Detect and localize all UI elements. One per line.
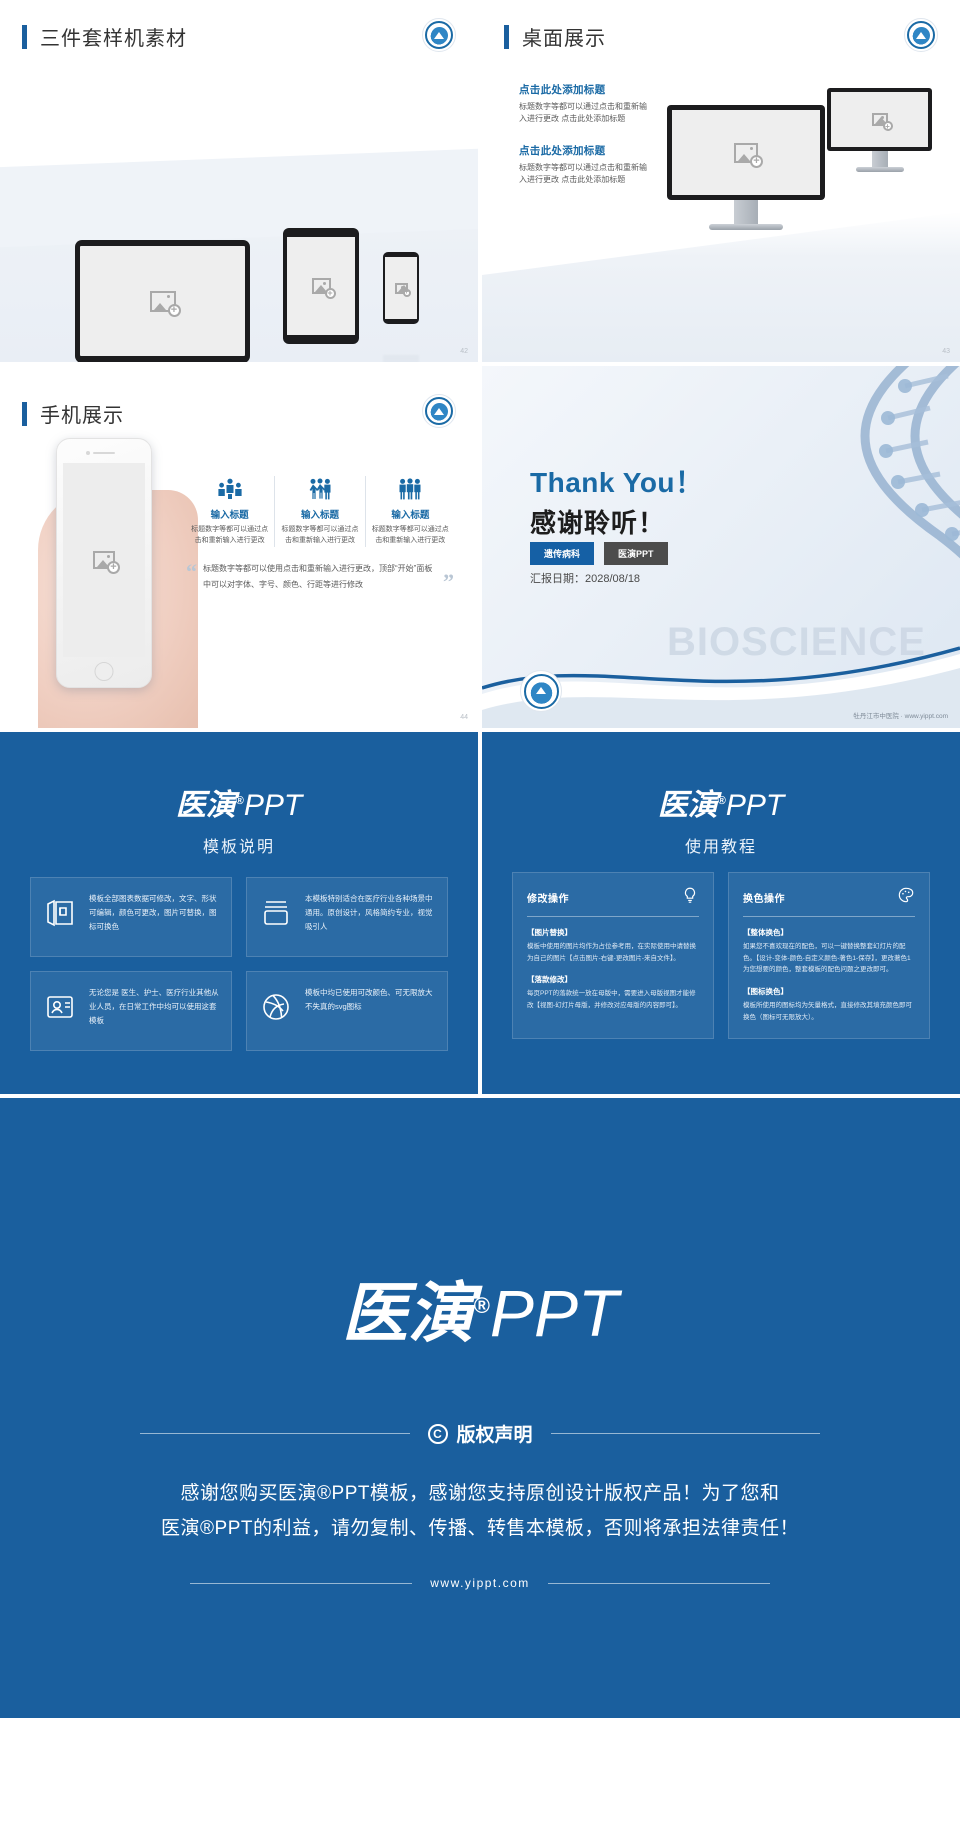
image-placeholder-icon: + bbox=[734, 143, 758, 163]
title-accent-bar bbox=[504, 25, 509, 49]
info-card[interactable]: 本模板特别适合在医疗行业各种场景中通用。原创设计，风格简约专业，视觉吸引人 bbox=[246, 877, 448, 957]
info-card[interactable]: 模板全部图表数据可修改，文字、形状可编辑，颜色可更改，图片可替换，图标可换色 bbox=[30, 877, 232, 957]
slide-thank-you[interactable]: Thank You！ 感谢聆听！ 遗传病科 医演PPT 汇报日期：2028/08… bbox=[482, 366, 960, 728]
image-placeholder-icon: + bbox=[150, 291, 176, 312]
info-card-text: 模板全部图表数据可修改，文字、形状可编辑，颜色可更改，图片可替换，图标可换色 bbox=[89, 892, 219, 934]
tutorial-block-text: 模板中使用的图片均作为占位参考用，在实际使用中请替换为自己的图片【点击图片-右键… bbox=[527, 941, 699, 964]
slide-mockup[interactable]: 三件套样机素材 + bbox=[0, 0, 478, 362]
copyright-heading-text: 版权声明 bbox=[457, 1420, 533, 1447]
image-placeholder-icon: + bbox=[872, 113, 888, 126]
text-block: 点击此处添加标题 标题数字等都可以通过点击和重新输入进行更改 点击此处添加标题 bbox=[519, 143, 647, 187]
slide-title-text: 手机展示 bbox=[40, 399, 124, 428]
people-group-icon bbox=[281, 476, 358, 500]
info-card-text: 模板中均已使用可改颜色、可无限放大不失真的svg图标 bbox=[305, 986, 435, 1014]
team-check-icon bbox=[191, 476, 268, 500]
footer-credit: 牡丹江市中医院 · www.yippt.com bbox=[853, 710, 948, 720]
copyright-label: C 版权声明 bbox=[428, 1420, 533, 1447]
tutorial-block-title: 【图标换色】 bbox=[743, 986, 915, 997]
tutorial-column-heading: 换色操作 bbox=[743, 890, 785, 905]
lightbulb-icon bbox=[681, 886, 699, 909]
slide-title-text: 三件套样机素材 bbox=[40, 22, 187, 51]
feature-heading: 输入标题 bbox=[191, 507, 268, 521]
tutorial-block: 【图片替换】 模板中使用的图片均作为占位参考用，在实际使用中请替换为自己的图片【… bbox=[527, 927, 699, 964]
brand-ppt: PPT bbox=[726, 789, 784, 822]
block-heading: 点击此处添加标题 bbox=[519, 143, 647, 158]
slide-subtitle: 模板说明 bbox=[0, 833, 478, 857]
copyright-heading-row: C 版权声明 bbox=[140, 1420, 820, 1447]
brand-tag[interactable]: 医演PPT bbox=[604, 542, 668, 565]
info-card[interactable]: 无论您是 医生、护士、医疗行业其他从业人员，在日常工作中均可以使用这套模板 bbox=[30, 971, 232, 1051]
tutorial-block: 【落款修改】 每页PPT的落款统一放在母版中，需要进入母版视图才能修改【视图-幻… bbox=[527, 974, 699, 1011]
brand-main: 医演 bbox=[658, 789, 718, 822]
page-title: 手机展示 bbox=[22, 399, 124, 428]
feature-body: 标题数字等都可以通过点击和重新输入进行更改 bbox=[281, 525, 358, 547]
tag-group: 遗传病科 医演PPT bbox=[530, 542, 668, 565]
feature-item[interactable]: 输入标题 标题数字等都可以通过点击和重新输入进行更改 bbox=[185, 476, 274, 547]
desktop-stage bbox=[482, 212, 960, 362]
thank-you-cn: 感谢聆听！ bbox=[530, 503, 704, 540]
website-url[interactable]: www.yippt.com bbox=[430, 1576, 530, 1590]
tutorial-columns: 修改操作 【图片替换】 模板中使用的图片均作为占位参考用，在实际使用中请替换为自… bbox=[512, 872, 930, 1039]
tutorial-block: 【整体换色】 如果您不喜欢现在的配色，可以一键替换整套幻灯片的配色。【设计-变体… bbox=[743, 927, 915, 976]
device-stage: + + bbox=[0, 140, 478, 362]
feature-heading: 输入标题 bbox=[281, 507, 358, 521]
copyright-line-1: 感谢您购买医演®PPT模板，感谢您支持原创设计版权产品！为了您和 bbox=[130, 1476, 830, 1511]
dribbble-icon bbox=[259, 986, 293, 1022]
department-tag[interactable]: 遗传病科 bbox=[530, 542, 594, 565]
feature-body: 标题数字等都可以通过点击和重新输入进行更改 bbox=[191, 525, 268, 547]
tutorial-block-title: 【整体换色】 bbox=[743, 927, 915, 938]
phone-mockup: + bbox=[383, 252, 419, 324]
block-heading: 点击此处添加标题 bbox=[519, 82, 647, 97]
quote-close-icon: ” bbox=[443, 571, 454, 593]
editable-chart-icon bbox=[43, 892, 77, 928]
slide-deck: 三件套样机素材 + bbox=[0, 0, 960, 1718]
brand-main: 医演 bbox=[176, 789, 236, 822]
divider-right bbox=[548, 1583, 770, 1584]
feature-item[interactable]: 输入标题 标题数字等都可以通过点击和重新输入进行更改 bbox=[274, 476, 364, 547]
brand-ppt: PPT bbox=[490, 1276, 618, 1350]
desktop-text-blocks: 点击此处添加标题 标题数字等都可以通过点击和重新输入进行更改 点击此处添加标题 … bbox=[519, 82, 647, 187]
secondary-monitor-mockup: + bbox=[827, 88, 932, 172]
people-three-icon bbox=[372, 476, 449, 500]
page-title: 三件套样机素材 bbox=[22, 22, 187, 51]
tutorial-block: 【图标换色】 模板所使用的图标均为矢量格式，直接修改其填充颜色即可换色（图标可无… bbox=[743, 986, 915, 1023]
archive-box-icon bbox=[259, 892, 293, 928]
brand-reg-mark: ® bbox=[474, 1293, 490, 1318]
quote-open-icon: “ bbox=[186, 561, 197, 593]
hospital-logo-icon bbox=[422, 394, 456, 428]
copyright-icon: C bbox=[428, 1424, 448, 1444]
title-accent-bar bbox=[22, 25, 27, 49]
hospital-logo-icon bbox=[422, 18, 456, 52]
hand-holding-phone: + bbox=[30, 438, 205, 728]
image-placeholder-icon: + bbox=[395, 283, 408, 294]
page-number: 42 bbox=[460, 348, 468, 355]
slide-tutorial[interactable]: 医演®PPT 使用教程 修改操作 【图片替换】 模板中使 bbox=[482, 732, 960, 1094]
thank-you-heading: Thank You！ 感谢聆听！ bbox=[530, 461, 704, 540]
slide-row-2: 手机展示 + bbox=[0, 366, 960, 728]
quote-block: “ 标题数字等都可以使用点击和重新输入进行更改，顶部“开始”面板中可以对字体、字… bbox=[186, 561, 454, 593]
slide-phone-showcase[interactable]: 手机展示 + bbox=[0, 366, 478, 728]
slide-row-1: 三件套样机素材 + bbox=[0, 0, 960, 362]
feature-list: 输入标题 标题数字等都可以通过点击和重新输入进行更改 输入标题 标题数字等都可以… bbox=[185, 476, 455, 547]
divider-left bbox=[190, 1583, 412, 1584]
laptop-mockup: + bbox=[75, 240, 250, 362]
brand-reg-mark: ® bbox=[236, 795, 244, 807]
palette-icon bbox=[897, 886, 915, 909]
image-placeholder-icon: + bbox=[312, 278, 331, 294]
tutorial-column[interactable]: 换色操作 【整体换色】 如果您不喜欢现在的配色，可以一键替换 bbox=[728, 872, 930, 1039]
thank-you-en: Thank You！ bbox=[530, 461, 704, 501]
tutorial-block-text: 如果您不喜欢现在的配色，可以一键替换整套幻灯片的配色。【设计-变体-颜色-自定义… bbox=[743, 941, 915, 976]
brand-logo-large: 医演®PPT bbox=[0, 1260, 960, 1356]
tutorial-block-text: 每页PPT的落款统一放在母版中，需要进入母版视图才能修改【视图-幻灯片母版，并修… bbox=[527, 988, 699, 1011]
feature-heading: 输入标题 bbox=[372, 507, 449, 521]
block-body: 标题数字等都可以通过点击和重新输入进行更改 点击此处添加标题 bbox=[519, 162, 647, 187]
info-card-text: 无论您是 医生、护士、医疗行业其他从业人员，在日常工作中均可以使用这套模板 bbox=[89, 986, 219, 1028]
tutorial-block-title: 【落款修改】 bbox=[527, 974, 699, 985]
hospital-logo-icon bbox=[904, 18, 938, 52]
tutorial-column-heading: 修改操作 bbox=[527, 890, 569, 905]
feature-item[interactable]: 输入标题 标题数字等都可以通过点击和重新输入进行更改 bbox=[365, 476, 455, 547]
tablet-mockup: + bbox=[283, 228, 359, 344]
info-card-grid: 模板全部图表数据可修改，文字、形状可编辑，颜色可更改，图片可替换，图标可换色 本… bbox=[30, 877, 448, 1051]
text-block: 点击此处添加标题 标题数字等都可以通过点击和重新输入进行更改 点击此处添加标题 bbox=[519, 82, 647, 126]
tutorial-block-text: 模板所使用的图标均为矢量格式，直接修改其填充颜色即可换色（图标可无限放大）。 bbox=[743, 1000, 915, 1023]
brand-logo-text: 医演®PPT bbox=[482, 780, 960, 824]
slide-template-info[interactable]: 医演®PPT 模板说明 模板全部图表数据可修改，文字、形状可编辑，颜色可更改，图… bbox=[0, 732, 478, 1094]
brand-reg-mark: ® bbox=[718, 795, 726, 807]
divider-right bbox=[551, 1433, 821, 1434]
primary-monitor-mockup: + bbox=[667, 105, 825, 230]
website-row: www.yippt.com bbox=[190, 1576, 770, 1590]
feature-body: 标题数字等都可以通过点击和重新输入进行更改 bbox=[372, 525, 449, 547]
slide-copyright[interactable]: 医演®PPT C 版权声明 感谢您购买医演®PPT模板，感谢您支持原创设计版权产… bbox=[0, 1098, 960, 1718]
tutorial-block-title: 【图片替换】 bbox=[527, 927, 699, 938]
slide-desktop[interactable]: 桌面展示 点击此处添加标题 标题数字等都可以通过点击和重新输入进行更改 点击此处… bbox=[482, 0, 960, 362]
slide-row-3: 医演®PPT 模板说明 模板全部图表数据可修改，文字、形状可编辑，颜色可更改，图… bbox=[0, 732, 960, 1094]
copyright-body: 感谢您购买医演®PPT模板，感谢您支持原创设计版权产品！为了您和 医演®PPT的… bbox=[130, 1476, 830, 1546]
block-body: 标题数字等都可以通过点击和重新输入进行更改 点击此处添加标题 bbox=[519, 101, 647, 126]
brand-ppt: PPT bbox=[244, 789, 302, 822]
page-number: 43 bbox=[942, 348, 950, 355]
tutorial-column[interactable]: 修改操作 【图片替换】 模板中使用的图片均作为占位参考用，在实际使用中请替换为自… bbox=[512, 872, 714, 1039]
page-number: 44 bbox=[460, 714, 468, 721]
image-placeholder-icon: + bbox=[93, 551, 115, 569]
quote-text: 标题数字等都可以使用点击和重新输入进行更改，顶部“开始”面板中可以对字体、字号、… bbox=[203, 561, 437, 593]
iphone-mockup: + bbox=[56, 438, 152, 688]
page-title: 桌面展示 bbox=[504, 22, 606, 51]
slide-title-text: 桌面展示 bbox=[522, 22, 606, 51]
slide-subtitle: 使用教程 bbox=[482, 833, 960, 857]
user-card-icon bbox=[43, 986, 77, 1022]
copyright-line-2: 医演®PPT的利益，请勿复制、传播、转售本模板，否则将承担法律责任！ bbox=[130, 1511, 830, 1546]
hospital-logo-icon bbox=[520, 670, 562, 712]
divider-left bbox=[140, 1433, 410, 1434]
title-accent-bar bbox=[22, 402, 27, 426]
report-date: 汇报日期：2028/08/18 bbox=[530, 570, 640, 586]
info-card-text: 本模板特别适合在医疗行业各种场景中通用。原创设计，风格简约专业，视觉吸引人 bbox=[305, 892, 435, 934]
brand-logo-text: 医演®PPT bbox=[0, 780, 478, 824]
info-card[interactable]: 模板中均已使用可改颜色、可无限放大不失真的svg图标 bbox=[246, 971, 448, 1051]
brand-main: 医演 bbox=[342, 1276, 474, 1350]
